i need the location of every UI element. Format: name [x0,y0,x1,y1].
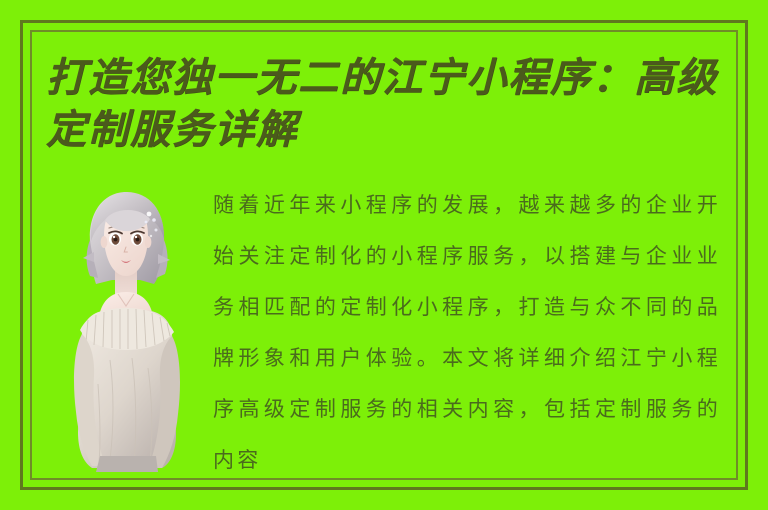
ear-left [101,236,108,248]
poster-canvas: 打造您独一无二的江宁小程序：高级定制服务详解 [0,0,768,510]
poster-title: 打造您独一无二的江宁小程序：高级定制服务详解 [46,52,746,156]
lower-garment [96,456,158,472]
body-paragraph: 随着近年来小程序的发展，越来越多的企业开始关注定制化的小程序服务，以搭建与企业业… [213,180,721,480]
illustration-anime-woman [70,184,182,472]
eye-left-highlight [113,236,115,238]
eye-right-highlight [135,236,137,238]
anime-woman-icon [70,184,182,472]
ear-right [145,236,152,248]
